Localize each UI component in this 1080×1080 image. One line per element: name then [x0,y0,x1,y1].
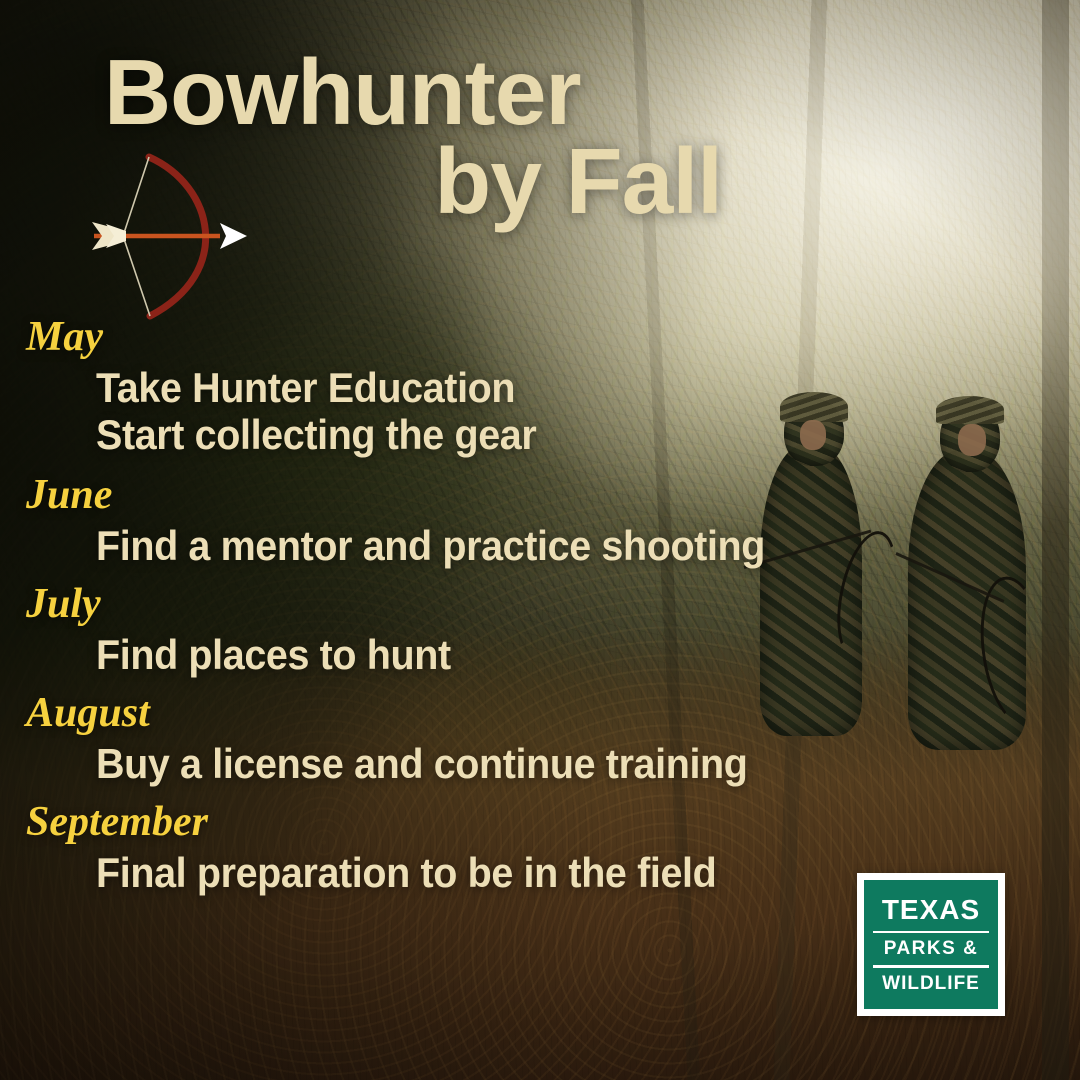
task-item: Final preparation to be in the field [96,849,833,896]
schedule-block-may: May Take Hunter Education Start collecti… [0,316,880,458]
logo-line-wildlife: WILDLIFE [873,974,989,994]
task-item: Find places to hunt [96,631,833,678]
logo-divider [873,965,989,968]
schedule-block-july: July Find places to hunt [0,583,880,678]
task-list-august: Buy a license and continue training [0,740,880,787]
title-line-2: by Fall [104,137,724,226]
schedule-block-june: June Find a mentor and practice shooting [0,474,880,569]
poster-canvas: Bowhunter by Fall May Take Hunter Educat… [0,0,1080,1080]
month-label-july: July [0,583,880,625]
logo-line-parks: PARKS & [873,939,989,959]
month-label-may: May [0,316,880,358]
task-item: Buy a license and continue training [96,740,833,787]
task-item: Take Hunter Education [96,364,833,411]
schedule-block-august: August Buy a license and continue traini… [0,692,880,787]
logo-divider [873,931,989,934]
logo-line-texas: TEXAS [873,895,989,924]
month-label-september: September [0,801,880,843]
schedule-list: May Take Hunter Education Start collecti… [0,316,880,910]
task-list-september: Final preparation to be in the field [0,849,880,896]
task-list-july: Find places to hunt [0,631,880,678]
page-title: Bowhunter by Fall [104,48,724,227]
task-item: Start collecting the gear [96,411,833,458]
task-list-may: Take Hunter Education Start collecting t… [0,364,880,458]
title-line-1: Bowhunter [104,48,724,137]
month-label-august: August [0,692,880,734]
schedule-block-september: September Final preparation to be in the… [0,801,880,896]
task-item: Find a mentor and practice shooting [96,522,833,569]
texas-parks-wildlife-logo: TEXAS PARKS & WILDLIFE [857,873,1005,1016]
task-list-june: Find a mentor and practice shooting [0,522,880,569]
month-label-june: June [0,474,880,516]
